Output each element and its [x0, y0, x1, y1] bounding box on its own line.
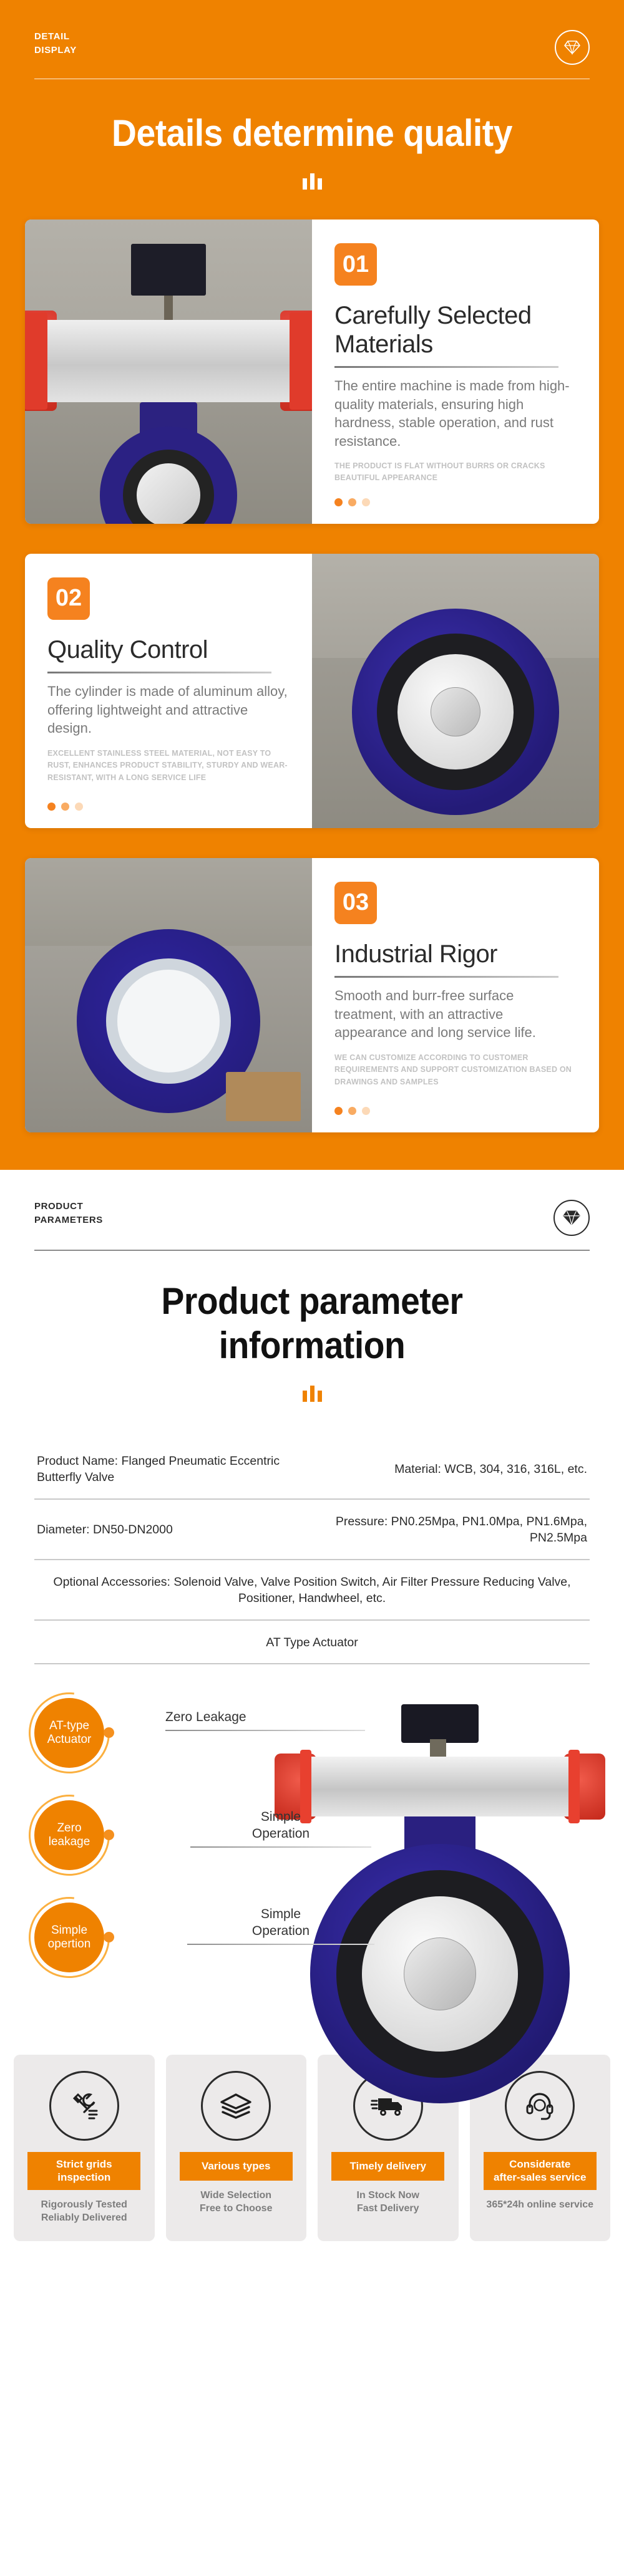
table-row: Optional Accessories: Solenoid Valve, Va… — [34, 1560, 590, 1621]
parameters-eyebrow-line1: PRODUCT — [34, 1200, 103, 1213]
callout-bubble: Zero leakage — [34, 1800, 104, 1870]
feature-card: 01 Carefully Selected Materials The enti… — [25, 219, 599, 524]
parameters-eyebrow: PRODUCT PARAMETERS — [34, 1200, 103, 1227]
callout-label-line1: Simple — [261, 1907, 301, 1921]
feature-card-number: 02 — [47, 577, 90, 620]
callout-pin-dot — [104, 1727, 114, 1738]
layers-stack-icon — [201, 2071, 271, 2141]
detail-eyebrow-line1: DETAIL — [34, 30, 77, 44]
callout-bubble-line1: Simple — [51, 1924, 87, 1937]
callout-bubble-line2: leakage — [49, 1835, 90, 1848]
callout-label: Simple Operation — [187, 1906, 374, 1945]
service-badge: Various types Wide Selection Free to Cho… — [166, 2055, 307, 2241]
callout-bubble-line1: Zero — [57, 1821, 81, 1835]
callout-bubble-line2: Actuator — [47, 1733, 92, 1746]
service-badge-bar-line2: after-sales service — [494, 2171, 586, 2183]
callout-label-line2: Operation — [252, 1924, 310, 1938]
callout-label: Zero Leakage — [165, 1709, 365, 1731]
service-badge-bar: Considerate after-sales service — [484, 2152, 597, 2190]
service-badge-sub-line1: Wide Selection — [200, 2190, 271, 2201]
feature-card-list: 01 Carefully Selected Materials The enti… — [0, 219, 624, 1132]
detail-display-section: DETAIL DISPLAY Details determine quality — [0, 0, 624, 1170]
table-row: Product Name: Flanged Pneumatic Eccentri… — [34, 1439, 590, 1500]
callout-bubble: AT-type Actuator — [34, 1698, 104, 1768]
feature-card-divider — [334, 976, 558, 978]
parameters-table: Product Name: Flanged Pneumatic Eccentri… — [34, 1439, 590, 1665]
diamond-icon — [555, 30, 590, 65]
feature-card: 02 Quality Control The cylinder is made … — [25, 554, 599, 828]
service-badge-bar-line1: Strict grids — [56, 2158, 112, 2170]
callout-label-line1: Zero Leakage — [165, 1710, 246, 1724]
service-badge-subtext: Rigorously Tested Reliably Delivered — [41, 2199, 127, 2225]
service-badge-subtext: Wide Selection Free to Choose — [200, 2189, 272, 2216]
feature-card-dots — [47, 789, 291, 811]
feature-card-subtext: WE CAN CUSTOMIZE ACCORDING TO CUSTOMER R… — [334, 1052, 578, 1088]
service-badge-bar-line1: Considerate — [509, 2158, 570, 2170]
detail-header-divider — [34, 79, 590, 79]
service-badge-bar-line2: inspection — [57, 2171, 110, 2183]
service-badge-sub-line1: 365*24h online service — [486, 2199, 593, 2210]
param-product-name: Product Name: Flanged Pneumatic Eccentri… — [37, 1453, 306, 1486]
parameters-header-divider — [34, 1250, 590, 1251]
product-image — [278, 1687, 602, 2036]
service-badge-list: Strict grids inspection Rigorously Teste… — [0, 2036, 624, 2265]
feature-card: 03 Industrial Rigor Smooth and burr-free… — [25, 858, 599, 1132]
feature-card-description: The cylinder is made of aluminum alloy, … — [47, 682, 291, 737]
callout-label: Simple Operation — [190, 1809, 371, 1848]
feature-card-image — [312, 554, 599, 828]
param-optional-accessories: Optional Accessories: Solenoid Valve, Va… — [37, 1574, 587, 1607]
feature-card-divider — [47, 672, 271, 673]
feature-card-body: 03 Industrial Rigor Smooth and burr-free… — [312, 858, 599, 1132]
feature-card-title: Quality Control — [47, 636, 291, 665]
service-badge-sub-line2: Fast Delivery — [357, 2203, 419, 2214]
callout-bubble-line1: AT-type — [49, 1719, 89, 1732]
tools-wrench-screwdriver-icon — [49, 2071, 119, 2141]
feature-card-description: Smooth and burr-free surface treatment, … — [334, 987, 578, 1041]
product-detail-page: DETAIL DISPLAY Details determine quality — [0, 0, 624, 2285]
feature-card-description: The entire machine is made from high-qua… — [334, 377, 578, 450]
parameters-eyebrow-line2: PARAMETERS — [34, 1213, 103, 1227]
detail-eyebrow-line2: DISPLAY — [34, 44, 77, 57]
service-badge-sub-line1: In Stock Now — [357, 2190, 419, 2201]
service-badge-bar-line1: Various types — [202, 2160, 271, 2173]
detail-section-header: DETAIL DISPLAY — [0, 0, 624, 65]
parameters-title-decoration — [0, 1386, 624, 1402]
service-badge-sub-line1: Rigorously Tested — [41, 2199, 127, 2210]
callout-pin-dot — [104, 1932, 114, 1942]
headset-support-agent-icon — [505, 2071, 575, 2141]
feature-card-body: 01 Carefully Selected Materials The enti… — [312, 219, 599, 524]
feature-card-image — [25, 858, 312, 1132]
feature-card-subtext: EXCELLENT STAINLESS STEEL MATERIAL, NOT … — [47, 748, 291, 784]
param-diameter: Diameter: DN50-DN2000 — [37, 1522, 306, 1538]
service-badge-subtext: In Stock Now Fast Delivery — [357, 2189, 419, 2216]
feature-card-dots — [334, 485, 578, 506]
service-badge-bar: Strict grids inspection — [27, 2152, 140, 2190]
page-title: Details determine quality — [25, 112, 599, 155]
parameters-title-line2: information — [25, 1324, 599, 1367]
callout-bubble-line2: opertion — [48, 1937, 91, 1951]
feature-card-number: 01 — [334, 243, 377, 286]
feature-callout-diagram: AT-type Actuator Zero leakage — [0, 1687, 624, 2036]
callout-label-line2: Operation — [252, 1826, 310, 1841]
service-badge-bar: Various types — [180, 2152, 293, 2181]
service-badge: Strict grids inspection Rigorously Teste… — [14, 2055, 155, 2241]
detail-eyebrow: DETAIL DISPLAY — [34, 30, 77, 57]
param-pressure: Pressure: PN0.25Mpa, PN1.0Mpa, PN1.6Mpa,… — [318, 1513, 587, 1546]
feature-card-subtext: THE PRODUCT IS FLAT WITHOUT BURRS OR CRA… — [334, 460, 578, 485]
callout-bubble: Simple opertion — [34, 1903, 104, 1972]
feature-card-title: Industrial Rigor — [334, 940, 578, 969]
feature-card-divider — [334, 366, 558, 368]
callout-label-line1: Simple — [261, 1810, 301, 1824]
callout-pin-dot — [104, 1830, 114, 1840]
service-badge-sub-line2: Reliably Delivered — [41, 2212, 127, 2223]
parameters-title-line1: Product parameter — [25, 1280, 599, 1323]
feature-card-title: Carefully Selected Materials — [334, 302, 578, 359]
service-badge-bar-line1: Timely delivery — [349, 2160, 426, 2173]
table-row: AT Type Actuator — [34, 1621, 590, 1665]
param-actuator-type: AT Type Actuator — [37, 1634, 587, 1651]
title-decoration — [0, 173, 624, 190]
product-parameters-section: PRODUCT PARAMETERS Product parameter inf… — [0, 1170, 624, 2285]
feature-card-number: 03 — [334, 882, 377, 924]
feature-card-dots — [334, 1093, 578, 1115]
feature-card-body: 02 Quality Control The cylinder is made … — [25, 554, 312, 828]
callout-bubble-list: AT-type Actuator Zero leakage — [34, 1698, 104, 1972]
feature-card-image — [25, 219, 312, 524]
service-badge-sub-line2: Free to Choose — [200, 2203, 272, 2214]
service-badge-subtext: 365*24h online service — [486, 2199, 593, 2212]
service-badge-bar: Timely delivery — [331, 2152, 444, 2181]
parameters-section-header: PRODUCT PARAMETERS — [0, 1170, 624, 1236]
diamond-icon — [553, 1200, 590, 1236]
table-row: Diameter: DN50-DN2000 Pressure: PN0.25Mp… — [34, 1500, 590, 1560]
param-material: Material: WCB, 304, 316, 316L, etc. — [318, 1461, 587, 1478]
